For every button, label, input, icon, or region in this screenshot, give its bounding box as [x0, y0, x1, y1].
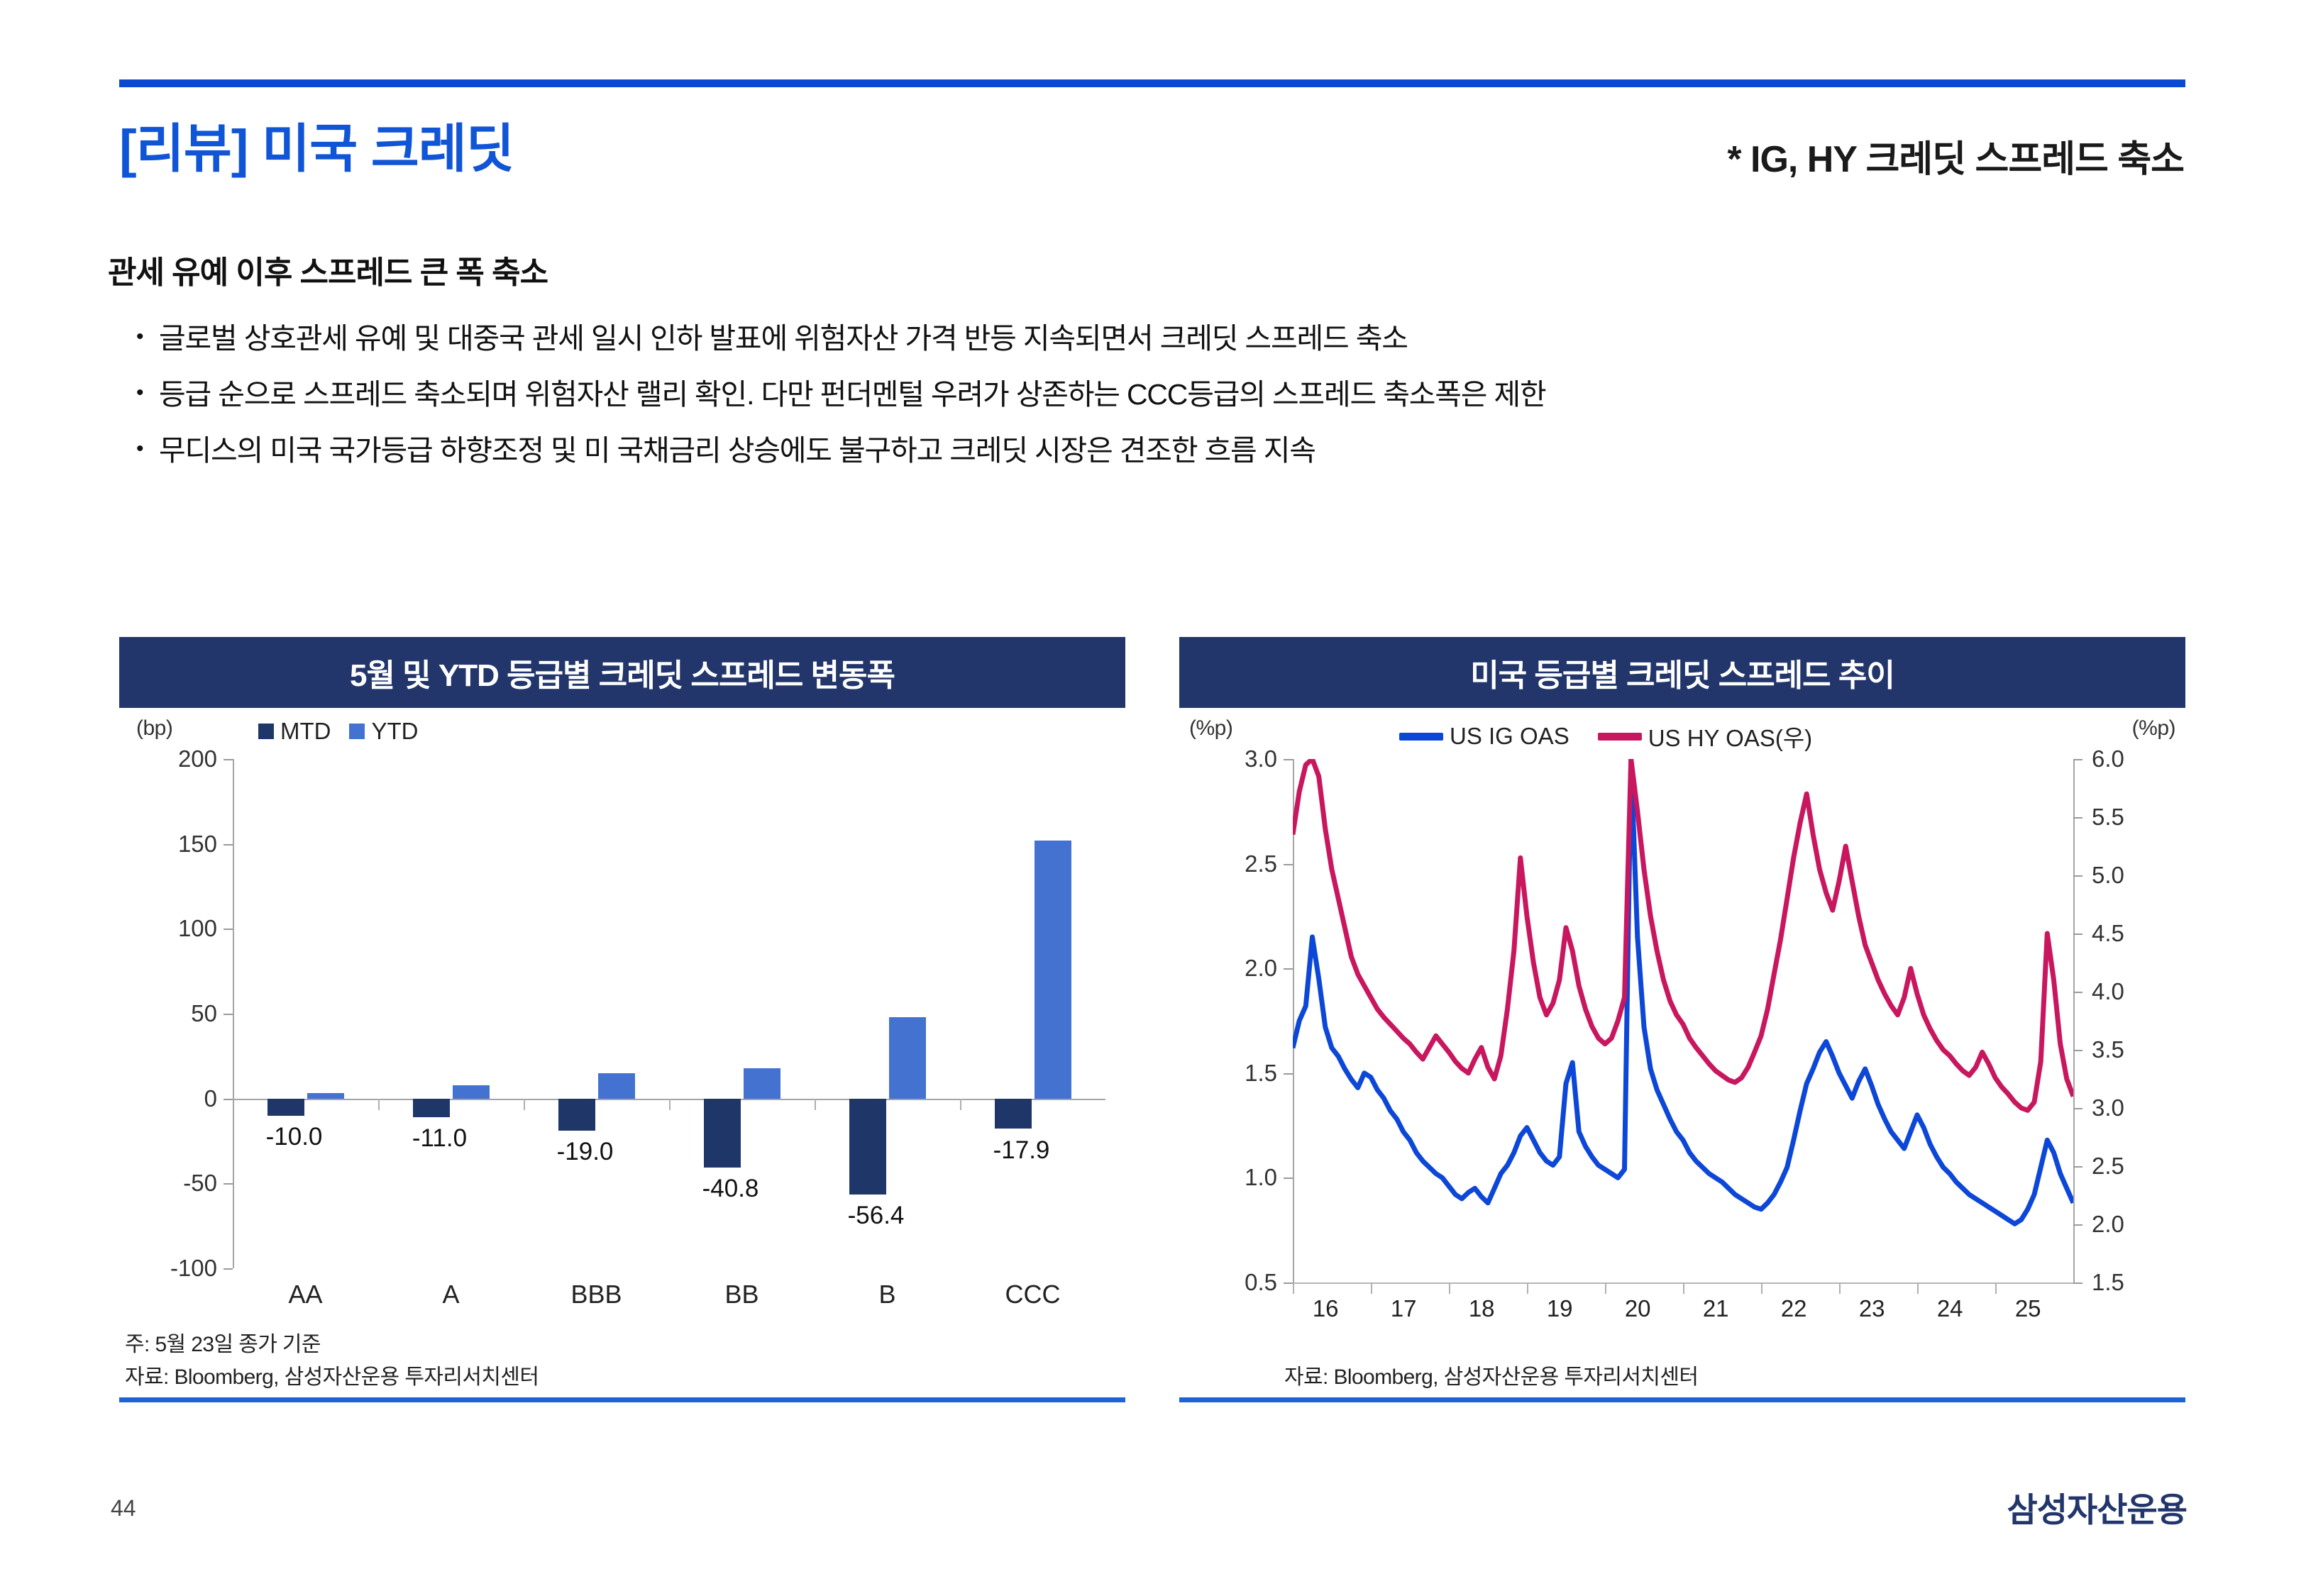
bullet-marker-icon: •: [136, 377, 159, 409]
panel-line-chart: 미국 등급별 크레딧 스프레드 추이 (%p) (%p) US IG OAS U…: [1179, 637, 2185, 1417]
x-axis-tick: [524, 1099, 525, 1110]
bar-ytd-aa: [307, 1093, 344, 1098]
y-axis-tick-label: 50: [191, 1000, 217, 1027]
bullet-marker-icon: •: [136, 321, 159, 353]
bar-plot: 200150100500-50-100-10.0AA-11.0A-19.0BBB…: [119, 708, 1125, 1417]
y-axis-tick: [224, 1099, 233, 1100]
bullet-text: 무디스의 미국 국가등급 하향조정 및 미 국채금리 상승에도 불구하고 크레딧…: [159, 433, 1315, 468]
panel-title-right: 미국 등급별 크레딧 스프레드 추이: [1179, 637, 2185, 708]
chart-note-left: 주: 5월 23일 종가 기준: [125, 1326, 321, 1358]
page-number: 44: [111, 1495, 136, 1522]
y-axis-tick-label: -50: [183, 1170, 217, 1197]
x-axis-category-aa: AA: [288, 1280, 322, 1309]
y-axis-tick: [224, 844, 233, 846]
bullet-text: 등급 순으로 스프레드 축소되며 위험자산 랠리 확인. 다만 펀더멘털 우려가…: [159, 377, 1546, 412]
line-series-us-ig-oas: [1293, 759, 2073, 1224]
y-axis-tick: [224, 1014, 233, 1015]
bar-value-label: -10.0: [266, 1123, 323, 1151]
bar-chart-area: (bp) MTD YTD 200150100500-50-100-10.0AA-…: [119, 708, 1125, 1417]
y-axis-tick: [224, 1268, 233, 1270]
line-chart-area: (%p) (%p) US IG OAS US HY OAS(우) 3.02.52…: [1179, 708, 2185, 1417]
bar-ytd-bb: [744, 1068, 780, 1099]
slide-root: [리뷰] 미국 크레딧 * IG, HY 크레딧 스프레드 축소 관세 유예 이…: [0, 0, 2306, 1596]
x-axis-tick: [815, 1099, 816, 1110]
bar-value-label: -17.9: [993, 1136, 1050, 1165]
list-item: • 무디스의 미국 국가등급 하향조정 및 미 국채금리 상승에도 불구하고 크…: [136, 433, 2180, 468]
bar-value-label: -40.8: [702, 1175, 759, 1203]
bar-ytd-b: [889, 1017, 926, 1099]
panel-bar-chart: 5월 및 YTD 등급별 크레딧 스프레드 변동폭 (bp) MTD YTD 2…: [119, 637, 1125, 1417]
y-axis-tick: [224, 759, 233, 760]
panel-bottom-rule-left: [119, 1397, 1125, 1402]
bar-ytd-ccc: [1035, 841, 1071, 1099]
bar-value-label: -56.4: [848, 1202, 905, 1230]
x-axis-category-bbb: BBB: [570, 1280, 622, 1309]
y-axis-tick: [224, 929, 233, 930]
line-plot: 3.02.52.01.51.00.56.05.55.04.54.03.53.02…: [1179, 708, 2185, 1417]
y-axis-tick-label: 100: [178, 915, 217, 942]
x-axis-tick: [669, 1099, 671, 1110]
bar-ytd-a: [453, 1085, 490, 1099]
page-title: [리뷰] 미국 크레딧: [119, 106, 514, 182]
x-axis-category-b: B: [878, 1280, 895, 1309]
bullet-list: • 글로벌 상호관세 유예 및 대중국 관세 일시 인하 발표에 위험자산 가격…: [136, 321, 2180, 489]
y-axis-tick-label: 0: [204, 1085, 217, 1112]
list-item: • 등급 순으로 스프레드 축소되며 위험자산 랠리 확인. 다만 펀더멘털 우…: [136, 377, 2180, 412]
x-axis-tick: [378, 1099, 380, 1110]
bar-mtd-aa: [267, 1099, 304, 1116]
bar-mtd-bbb: [558, 1099, 595, 1131]
page-subtitle: * IG, HY 크레딧 스프레드 축소: [1727, 129, 2184, 182]
bar-mtd-a: [413, 1099, 450, 1117]
section-heading: 관세 유예 이후 스프레드 큰 폭 축소: [108, 247, 548, 292]
bullet-marker-icon: •: [136, 433, 159, 465]
bar-mtd-b: [849, 1099, 886, 1195]
y-axis-line: [233, 759, 234, 1268]
y-axis-tick-label: 150: [178, 831, 217, 858]
chart-source-right: 자료: Bloomberg, 삼성자산운용 투자리서치센터: [1284, 1359, 1698, 1390]
y-axis-tick-label: -100: [170, 1255, 217, 1282]
x-axis-category-bb: BB: [724, 1280, 758, 1309]
line-series-us-hy-oas---: [1293, 759, 2073, 1110]
y-axis-tick: [224, 1183, 233, 1185]
bar-mtd-ccc: [995, 1099, 1032, 1129]
bar-value-label: -11.0: [412, 1124, 467, 1153]
brand-logo: 삼성자산운용: [2007, 1483, 2187, 1531]
panel-title-left: 5월 및 YTD 등급별 크레딧 스프레드 변동폭: [119, 637, 1125, 708]
chart-source-left: 자료: Bloomberg, 삼성자산운용 투자리서치센터: [125, 1359, 539, 1390]
bullet-text: 글로벌 상호관세 유예 및 대중국 관세 일시 인하 발표에 위험자산 가격 반…: [159, 321, 1408, 356]
line-series-canvas: [1179, 708, 2185, 1417]
x-axis-category-a: A: [442, 1280, 459, 1309]
x-axis-tick: [960, 1099, 961, 1110]
x-axis-category-ccc: CCC: [1005, 1280, 1061, 1309]
bar-mtd-bb: [704, 1099, 741, 1168]
y-axis-tick-label: 200: [178, 746, 217, 772]
list-item: • 글로벌 상호관세 유예 및 대중국 관세 일시 인하 발표에 위험자산 가격…: [136, 321, 2180, 356]
header-rule: [119, 79, 2185, 87]
bar-ytd-bbb: [598, 1073, 635, 1099]
panel-bottom-rule-right: [1179, 1397, 2185, 1402]
bar-value-label: -19.0: [557, 1138, 614, 1166]
